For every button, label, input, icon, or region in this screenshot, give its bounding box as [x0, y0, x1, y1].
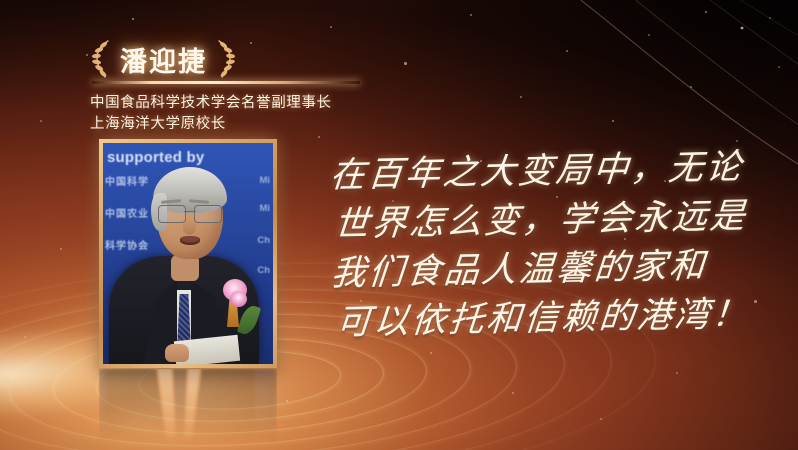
- vignette-overlay: [0, 0, 798, 450]
- quote-card-slide: 潘迎捷 中国食品科学技术学会名誉: [0, 0, 798, 450]
